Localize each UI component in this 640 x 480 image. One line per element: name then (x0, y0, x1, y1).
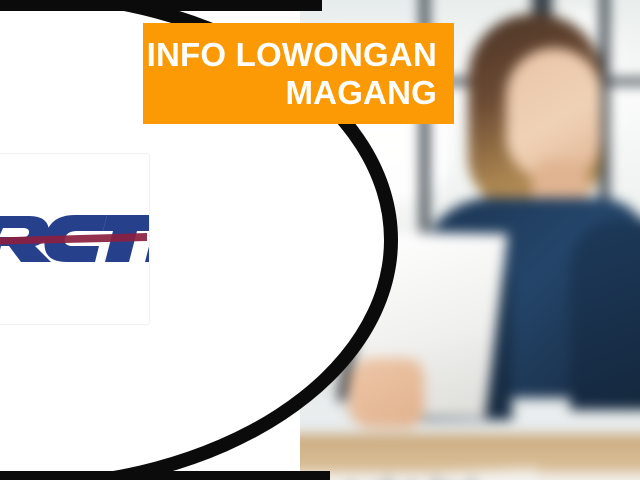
top-black-band (0, 0, 322, 11)
headline-banner: INFO LOWONGAN MAGANG (143, 23, 454, 124)
person-hand (348, 358, 424, 428)
headline-line-2: MAGANG (285, 74, 437, 112)
poster-canvas: INFO LOWONGAN MAGANG (0, 0, 640, 480)
rcti-logo-icon (0, 208, 149, 270)
rcti-logo (0, 208, 149, 270)
logo-card (0, 153, 150, 325)
person-blazer-right (570, 220, 640, 410)
bottom-black-band (0, 471, 330, 480)
headline-line-1: INFO LOWONGAN (147, 36, 437, 74)
